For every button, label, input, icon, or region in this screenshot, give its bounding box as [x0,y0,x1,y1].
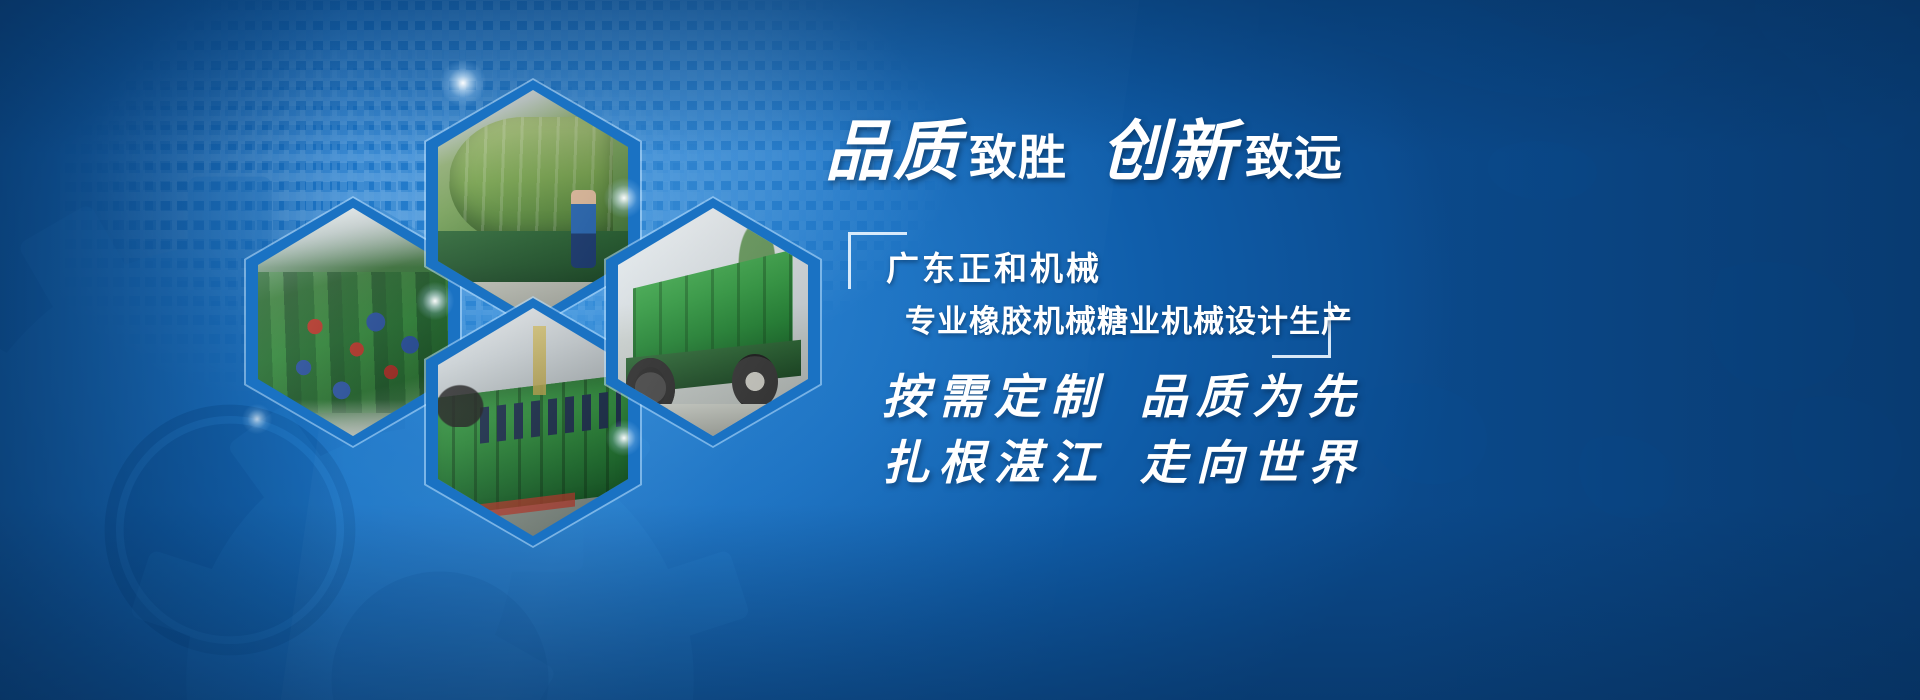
slogan-line-2: 扎根湛江走向世界 [882,424,1364,493]
company-bracket-box: 广东正和机械 专业橡胶机械糖业机械设计生产 [848,232,1318,340]
banner-text-block: 品质致胜创新致远 广东正和机械 专业橡胶机械糖业机械设计生产 按需定制品质为先 … [820,0,1920,700]
headline-part2-brush: 创新 [1101,118,1237,184]
headline-part1-plain: 致胜 [969,135,1067,183]
slogan-1-right: 品质为先 [1140,370,1364,425]
headline: 品质致胜创新致远 [825,118,1343,184]
sparkle-icon-5 [242,404,272,434]
company-name: 广东正和机械 [886,242,1102,290]
slogan-2-left: 扎根湛江 [882,436,1106,491]
sparkle-icon-1 [440,60,486,106]
slogan-2-right: 走向世界 [1140,436,1364,491]
promo-banner: 品质致胜创新致远 广东正和机械 专业橡胶机械糖业机械设计生产 按需定制品质为先 … [0,0,1920,700]
company-business: 专业橡胶机械糖业机械设计生产 [905,296,1353,341]
slogan-1-left: 按需定制 [882,370,1106,425]
headline-part2-plain: 致远 [1245,135,1343,183]
headline-part1-brush: 品质 [825,118,961,184]
slogan-line-1: 按需定制品质为先 [882,358,1364,427]
hexagon-photo-cluster [0,0,900,700]
